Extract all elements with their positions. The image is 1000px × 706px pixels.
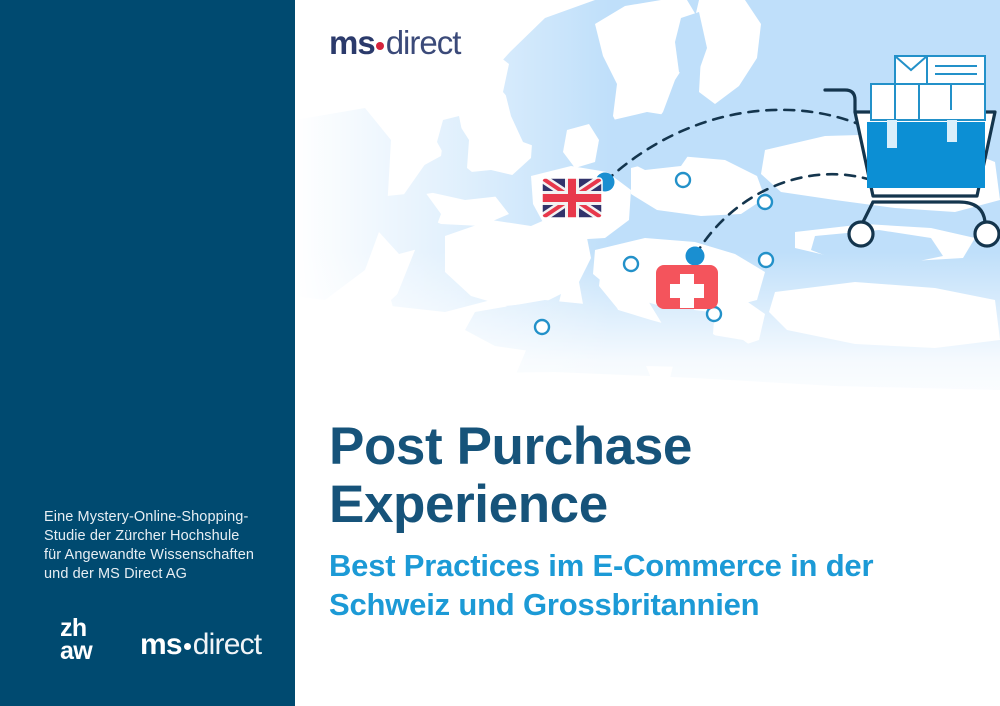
sidebar: Eine Mystery-Online-Shopping- Studie der… bbox=[0, 0, 295, 706]
red-dot-icon bbox=[376, 42, 384, 50]
label-icon bbox=[927, 56, 985, 84]
cover-titles: Post Purchase Experience Best Practices … bbox=[329, 418, 969, 624]
study-description-line-4: und der MS Direct AG bbox=[44, 565, 276, 584]
marker-outline-2 bbox=[624, 257, 638, 271]
msdirect-logo-header: msdirect bbox=[329, 26, 460, 59]
study-description: Eine Mystery-Online-Shopping- Studie der… bbox=[44, 508, 276, 584]
page-title-line-2: Experience bbox=[329, 476, 969, 534]
page-title: Post Purchase Experience bbox=[329, 418, 969, 534]
marker-outline-4 bbox=[759, 253, 773, 267]
page-subtitle-line-2: Schweiz und Grossbritannien bbox=[329, 585, 969, 624]
page-title-line-1: Post Purchase bbox=[329, 418, 969, 476]
marker-switzerland bbox=[686, 247, 705, 266]
marker-outline-3 bbox=[758, 195, 772, 209]
marker-outline-6 bbox=[535, 320, 549, 334]
uk-flag-icon bbox=[542, 178, 602, 218]
study-description-line-2: Studie der Zürcher Hochshule bbox=[44, 527, 276, 546]
sidebar-logo-brand-bold: ms bbox=[140, 628, 182, 661]
marker-outline-5 bbox=[707, 307, 721, 321]
page-subtitle-line-1: Best Practices im E-Commerce in der bbox=[329, 546, 969, 585]
white-dot-icon bbox=[184, 643, 191, 650]
study-description-line-3: für Angewandte Wissenschaften bbox=[44, 546, 276, 565]
msdirect-logo-sidebar: msdirect bbox=[140, 630, 261, 660]
partner-logos: zh aw msdirect bbox=[44, 616, 284, 676]
study-description-line-1: Eine Mystery-Online-Shopping- bbox=[44, 508, 276, 527]
switzerland-flag-icon bbox=[656, 265, 718, 309]
cart-wheel-right bbox=[975, 222, 999, 246]
cart-goods-blue bbox=[867, 122, 985, 188]
cart-wheel-left bbox=[849, 222, 873, 246]
tape-strip-2 bbox=[947, 120, 957, 142]
logo-brand-bold: ms bbox=[329, 24, 375, 61]
europe-map-illustration bbox=[295, 0, 1000, 420]
cover-page: msdirect Post Purchase Experience Best P… bbox=[0, 0, 1000, 706]
page-subtitle: Best Practices im E-Commerce in der Schw… bbox=[329, 546, 969, 624]
marker-outline-1 bbox=[676, 173, 690, 187]
logo-brand-light: direct bbox=[386, 24, 461, 61]
tape-strip-1 bbox=[887, 120, 897, 148]
zhaw-logo: zh aw bbox=[60, 617, 92, 663]
zhaw-logo-line-2: aw bbox=[60, 640, 92, 663]
sidebar-logo-brand-light: direct bbox=[193, 628, 262, 661]
